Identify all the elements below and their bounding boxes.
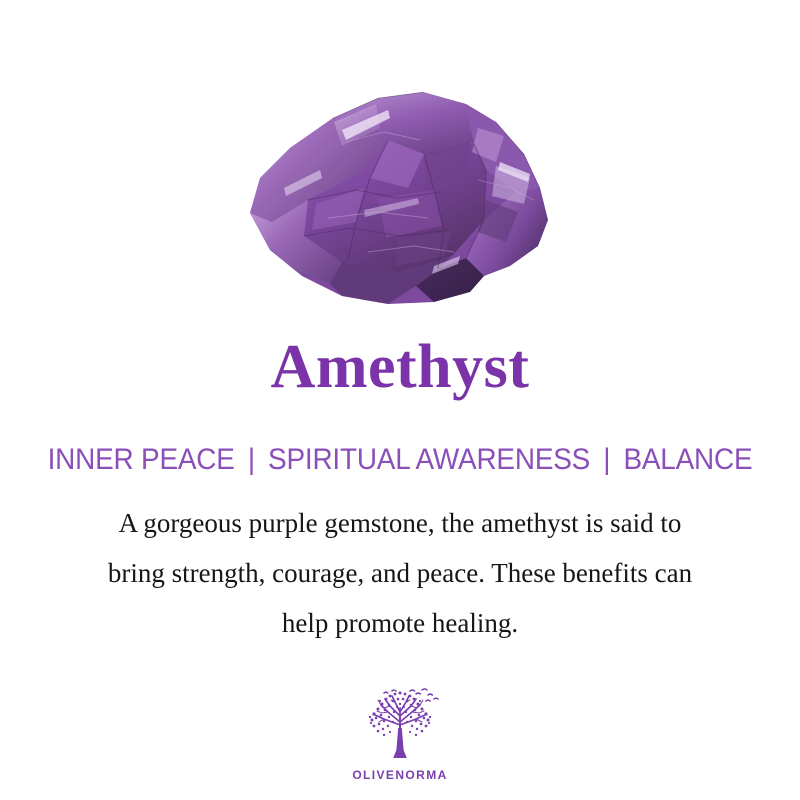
tagline-item-spiritual-awareness: SPIRITUAL AWARENESS (268, 443, 590, 476)
description-text: A gorgeous purple gemstone, the amethyst… (55, 498, 745, 648)
keyword-tagline: INNER PEACE | SPIRITUAL AWARENESS | BALA… (28, 444, 772, 476)
tagline-item-inner-peace: INNER PEACE (48, 443, 235, 476)
brand-logo: OLIVENORMA (0, 688, 800, 782)
amethyst-crystal-image (238, 70, 562, 316)
tagline-separator: | (598, 444, 616, 476)
description-line: help promote healing. (55, 598, 745, 648)
brand-wordmark: OLIVENORMA (0, 768, 800, 782)
amethyst-info-card: Amethyst INNER PEACE | SPIRITUAL AWARENE… (0, 0, 800, 800)
hero-image-area (0, 0, 800, 330)
tagline-separator: | (242, 444, 260, 476)
page-title: Amethyst (0, 336, 800, 398)
tree-of-life-icon (354, 688, 446, 766)
description-line: A gorgeous purple gemstone, the amethyst… (55, 498, 745, 548)
tagline-item-balance: BALANCE (623, 443, 752, 476)
description-line: bring strength, courage, and peace. Thes… (55, 548, 745, 598)
